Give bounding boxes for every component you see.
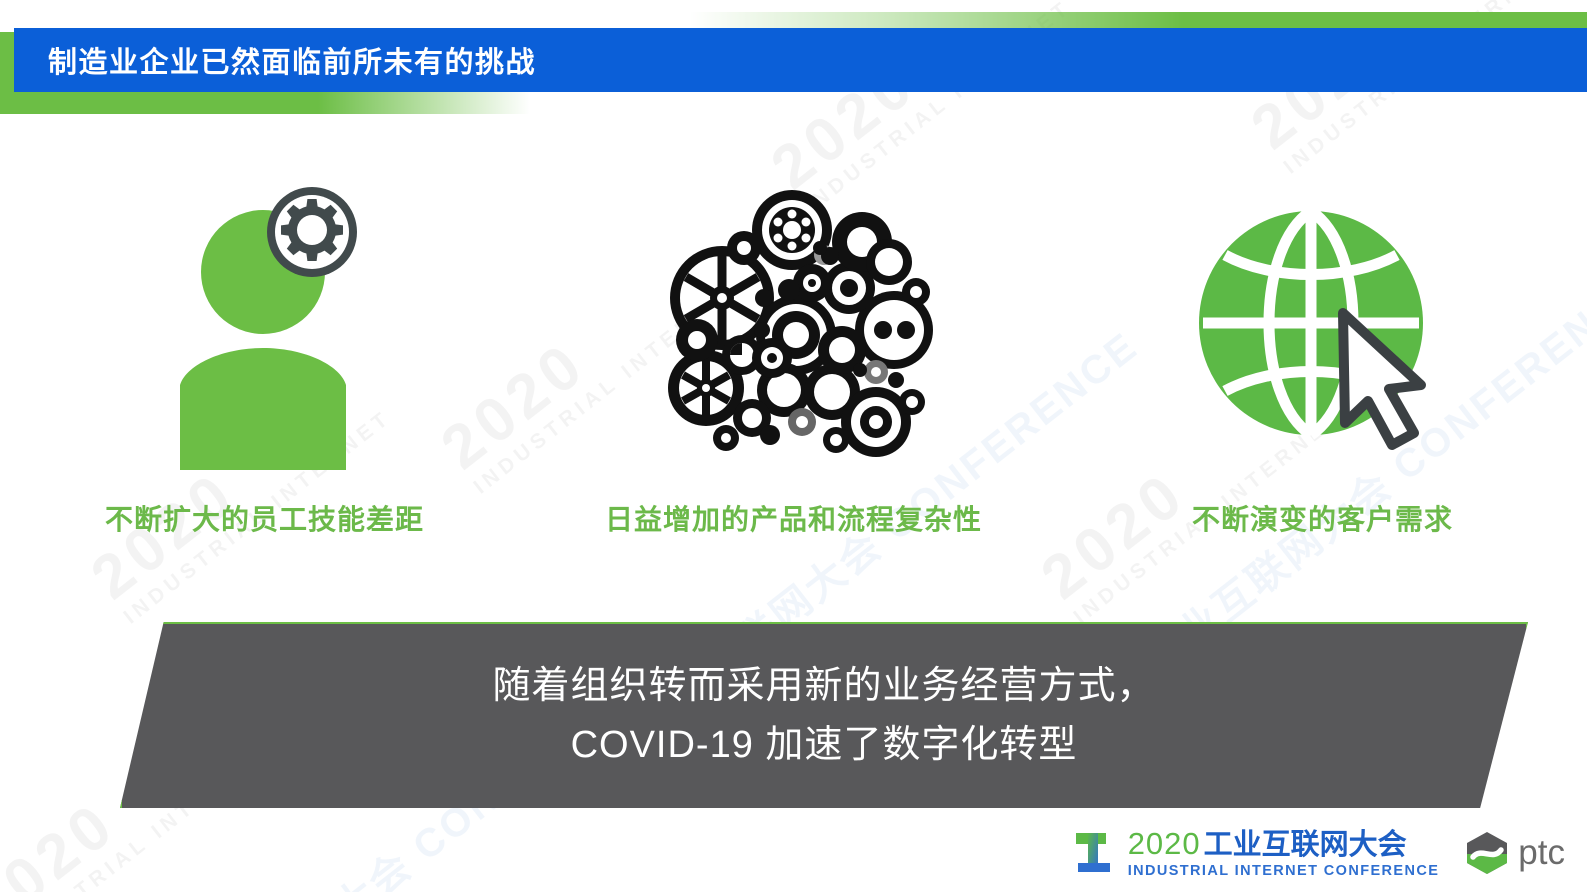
conference-logo: 2020 工业互联网大会 INDUSTRIAL INTERNET CONFERE… (1074, 828, 1440, 879)
feature-columns: 不断扩大的员工技能差距 (0, 160, 1587, 580)
conference-logo-year: 2020 (1128, 828, 1201, 859)
person-with-gear-icon (150, 180, 380, 470)
gear-cluster-icon (644, 190, 944, 460)
feature-column-customer-demand: 不断演变的客户需求 (1058, 160, 1587, 580)
highlight-banner: 随着组织转而采用新的业务经营方式， COVID-19 加速了数字化转型 (120, 622, 1528, 808)
banner-line-1: 随着组织转而采用新的业务经营方式， (492, 657, 1155, 716)
feature-column-complexity: 日益增加的产品和流程复杂性 (529, 160, 1058, 580)
ptc-mark-icon (1465, 830, 1509, 876)
icon-container (644, 160, 944, 490)
conference-mark-icon (1074, 829, 1120, 877)
conference-logo-name-en: INDUSTRIAL INTERNET CONFERENCE (1128, 864, 1440, 879)
icon-container (150, 160, 380, 490)
ptc-wordmark: ptc (1518, 833, 1565, 873)
globe-with-cursor-icon (1193, 193, 1453, 458)
footer-logos: 2020 工业互联网大会 INDUSTRIAL INTERNET CONFERE… (1074, 828, 1565, 879)
page-title: 制造业企业已然面临前所未有的挑战 (48, 39, 536, 81)
conference-logo-row: 2020 工业互联网大会 (1128, 828, 1440, 860)
feature-caption: 不断扩大的员工技能差距 (105, 498, 424, 538)
banner-line-2: COVID-19 加速了数字化转型 (571, 716, 1078, 775)
conference-logo-text: 2020 工业互联网大会 INDUSTRIAL INTERNET CONFERE… (1128, 828, 1440, 879)
ptc-logo: ptc (1465, 830, 1565, 876)
conference-logo-name-cn: 工业互联网大会 (1204, 831, 1407, 860)
slide: 2020 INDUSTRIAL INTERNET 2020 INDUSTRIAL… (0, 0, 1587, 892)
title-bar: 制造业企业已然面临前所未有的挑战 (14, 28, 1587, 92)
feature-caption: 不断演变的客户需求 (1192, 498, 1453, 538)
feature-column-skills-gap: 不断扩大的员工技能差距 (0, 160, 529, 580)
feature-caption: 日益增加的产品和流程复杂性 (605, 498, 982, 538)
icon-container (1193, 160, 1453, 490)
